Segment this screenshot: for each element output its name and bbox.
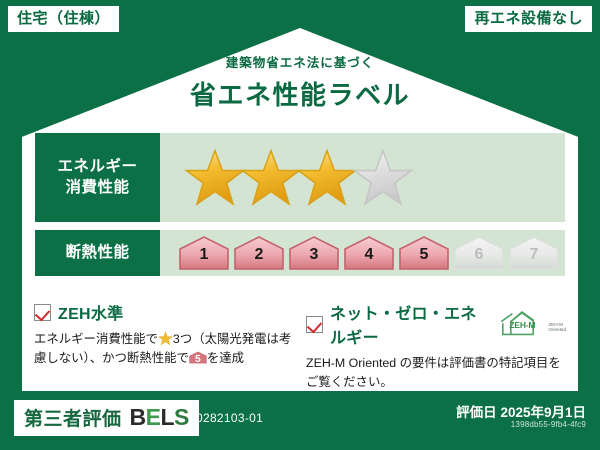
label-title: 建築物省エネ法に基づく 省エネ性能ラベル	[0, 52, 600, 112]
renewable-equipment-tag: 再エネ設備なし	[465, 6, 592, 32]
third-party-eval-text: 第三者評価	[24, 404, 122, 431]
performance-rows: エネルギー 消費性能	[35, 133, 565, 276]
zeh-desc-part3: を達成	[207, 351, 244, 365]
insulation-level-6-number: 6	[453, 246, 505, 264]
net-zero-energy-title: ネット・ゼロ・エネルギー	[330, 300, 487, 348]
insulation-level-4: 4	[343, 235, 395, 271]
zeh-standard-description: エネルギー消費性能で3つ（太陽光発電は考慮しない）、かつ断熱性能で5を達成	[34, 330, 298, 368]
insulation-level-7-number: 7	[508, 246, 560, 264]
net-zero-energy-header: ネット・ゼロ・エネルギー ZEH-M ZEH-M Oriented	[306, 300, 566, 348]
label-footer: 第三者評価 BELS 0282103-01 評価日 2025年9月1日 1398…	[0, 392, 600, 450]
zeh-standard-header: ZEH水準	[34, 300, 298, 324]
bels-logo: BELS	[130, 404, 189, 431]
insulation-level-1-number: 1	[178, 246, 230, 264]
label-main-title: 省エネ性能ラベル	[0, 75, 600, 112]
star-icon-inline	[158, 331, 173, 346]
zeh-standard-title: ZEH水準	[58, 300, 124, 324]
insulation-level-1: 1	[178, 235, 230, 271]
net-zero-energy-checkbox[interactable]	[306, 316, 323, 333]
evaluation-date-value: 2025年9月1日	[500, 405, 586, 420]
zeh-m-sub-line2: Oriented	[548, 327, 566, 333]
building-type-tag: 住宅（住棟）	[8, 6, 119, 32]
bels-badge: 第三者評価 BELS	[14, 400, 199, 436]
insulation-performance-row: 断熱性能 1	[35, 230, 565, 276]
certificate-number: 0282103-01	[196, 411, 263, 425]
evaluation-date: 評価日 2025年9月1日	[456, 401, 586, 421]
zeh-m-house-icon: ZEH-M	[498, 310, 546, 338]
net-zero-energy-description: ZEH-M Oriented の要件は評価書の特記項目をご覧ください。	[306, 354, 566, 392]
zeh-desc-part1: エネルギー消費性能で	[34, 332, 158, 346]
star-icon-filled-2	[240, 147, 302, 209]
energy-performance-value	[160, 133, 565, 222]
insulation-scale: 1 2 3	[160, 235, 560, 271]
label-subtitle: 建築物省エネ法に基づく	[0, 52, 600, 71]
insulation-performance-value: 1 2 3	[160, 230, 565, 276]
energy-performance-label: エネルギー 消費性能	[35, 133, 160, 222]
insulation-level-4-number: 4	[343, 246, 395, 264]
house-icon-inline: 5	[189, 350, 207, 365]
zeh-m-badge: ZEH-M ZEH-M Oriented	[498, 310, 566, 338]
star-icon-filled-1	[184, 147, 246, 209]
zeh-m-badge-subtext: ZEH-M Oriented	[548, 322, 566, 338]
star-icon-filled-3	[296, 147, 358, 209]
insulation-level-3-number: 3	[288, 246, 340, 264]
zeh-m-badge-label: ZEH-M	[498, 320, 546, 330]
insulation-level-5: 5	[398, 235, 450, 271]
energy-label-line1: エネルギー	[57, 157, 137, 178]
label-hash-id: 1398db55-9fb4-4fc9	[511, 420, 586, 429]
insulation-level-6: 6	[453, 235, 505, 271]
zeh-standard-block: ZEH水準 エネルギー消費性能で3つ（太陽光発電は考慮しない）、かつ断熱性能で5…	[34, 300, 306, 392]
star-icon-empty-4	[352, 147, 414, 209]
insulation-label-line1: 断熱性能	[65, 243, 129, 264]
insulation-level-3: 3	[288, 235, 340, 271]
energy-label-line2: 消費性能	[65, 178, 129, 199]
insulation-level-2-number: 2	[233, 246, 285, 264]
energy-label-card: 住宅（住棟） 再エネ設備なし 建築物省エネ法に基づく 省エネ性能ラベル エネルギ…	[0, 0, 600, 450]
insulation-performance-label: 断熱性能	[35, 230, 160, 276]
insulation-level-7: 7	[508, 235, 560, 271]
net-zero-energy-block: ネット・ゼロ・エネルギー ZEH-M ZEH-M Oriented	[306, 300, 574, 392]
energy-performance-row: エネルギー 消費性能	[35, 133, 565, 222]
insulation-level-5-number: 5	[398, 246, 450, 264]
insulation-level-2: 2	[233, 235, 285, 271]
house-icon-inline-number: 5	[189, 352, 207, 367]
star-rating	[160, 147, 408, 209]
evaluation-date-label: 評価日	[456, 405, 497, 420]
certification-checks: ZEH水準 エネルギー消費性能で3つ（太陽光発電は考慮しない）、かつ断熱性能で5…	[34, 300, 574, 392]
zeh-standard-checkbox[interactable]	[34, 304, 51, 321]
